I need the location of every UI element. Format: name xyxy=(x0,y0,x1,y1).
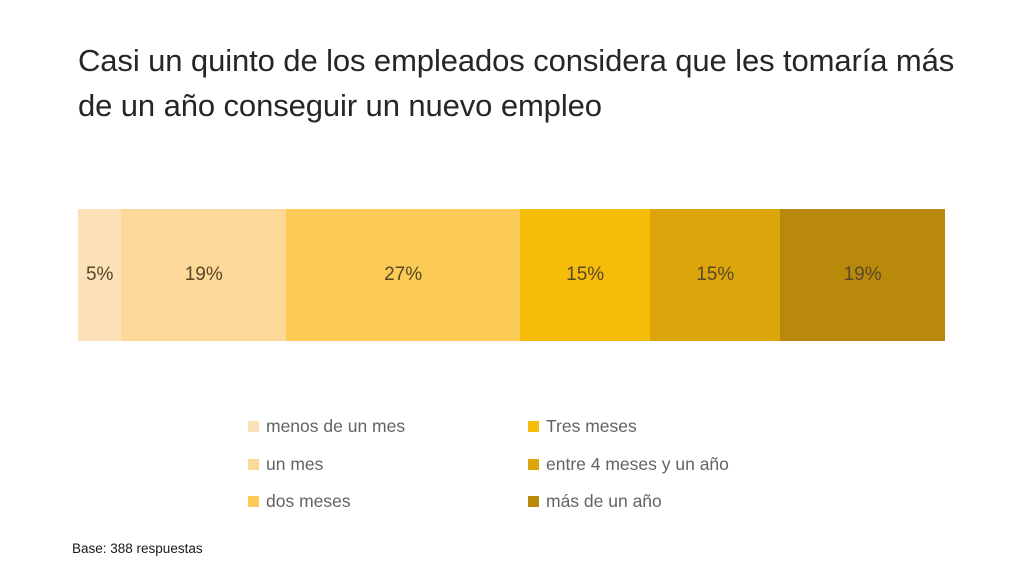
bar-segment-value: 19% xyxy=(185,264,223,286)
legend-item-un-mes[interactable]: Tres meses xyxy=(528,408,708,446)
bar-segment-entre-4-meses-y-un-ano[interactable]: 15% xyxy=(650,209,780,341)
bar-segment-mas-de-un-ano[interactable]: 19% xyxy=(780,209,945,341)
legend-swatch-icon xyxy=(248,496,259,507)
legend-swatch-icon xyxy=(248,421,259,432)
legend-item-tres-meses[interactable]: entre 4 meses y un año xyxy=(528,446,708,484)
legend-item-entre-4-meses-y-un-ano[interactable]: dos meses xyxy=(248,483,528,521)
legend-swatch-icon xyxy=(528,459,539,470)
legend-item-label: más de un año xyxy=(546,491,662,512)
bar-segment-un-mes[interactable]: 19% xyxy=(121,209,286,341)
bar-segment-value: 15% xyxy=(566,264,604,286)
legend-swatch-icon xyxy=(528,496,539,507)
legend-item-label: Tres meses xyxy=(546,416,637,437)
bar-segment-value: 15% xyxy=(696,264,734,286)
stacked-bar-chart: 5% 19% 27% 15% 15% 19% xyxy=(78,209,945,341)
legend-item-mas-de-un-ano[interactable]: más de un año xyxy=(528,483,708,521)
bar-segment-menos-de-un-mes[interactable]: 5% xyxy=(78,209,121,341)
chart-legend: menos de un mes Tres meses un mes entre … xyxy=(248,408,708,521)
legend-item-label: dos meses xyxy=(266,491,351,512)
legend-swatch-icon xyxy=(528,421,539,432)
bar-segment-value: 19% xyxy=(844,264,882,286)
legend-item-dos-meses[interactable]: un mes xyxy=(248,446,528,484)
page-title: Casi un quinto de los empleados consider… xyxy=(78,38,968,128)
bar-segment-value: 5% xyxy=(86,264,113,286)
bar-segment-tres-meses[interactable]: 15% xyxy=(520,209,650,341)
base-note: Base: 388 respuestas xyxy=(72,541,203,556)
bar-segment-dos-meses[interactable]: 27% xyxy=(286,209,520,341)
legend-item-label: un mes xyxy=(266,454,323,475)
legend-item-menos-de-un-mes[interactable]: menos de un mes xyxy=(248,408,528,446)
legend-swatch-icon xyxy=(248,459,259,470)
legend-item-label: entre 4 meses y un año xyxy=(546,454,729,475)
bar-segment-value: 27% xyxy=(384,264,422,286)
legend-item-label: menos de un mes xyxy=(266,416,405,437)
